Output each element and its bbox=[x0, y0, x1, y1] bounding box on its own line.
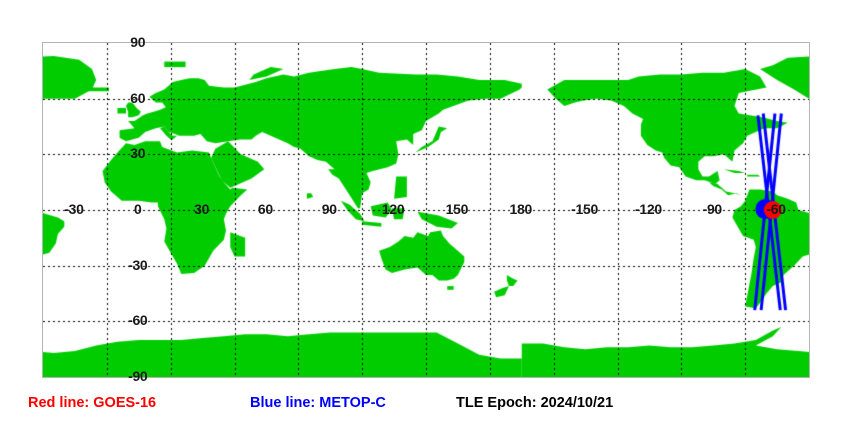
figure-legend: Red line: GOES-16 Blue line: METOP-C TLE… bbox=[0, 396, 850, 420]
lon-tick-label: -120 bbox=[635, 202, 662, 216]
legend-blue-line-metopc: Blue line: METOP-C bbox=[250, 396, 386, 411]
lon-tick-label: 180 bbox=[510, 202, 532, 216]
lon-tick-label: -30 bbox=[64, 202, 83, 216]
lat-tick-label: 30 bbox=[130, 146, 145, 160]
lon-tick-label: -150 bbox=[571, 202, 598, 216]
legend-red-line-goes16: Red line: GOES-16 bbox=[28, 396, 156, 411]
lon-tick-label: 150 bbox=[446, 202, 468, 216]
map-figure: -300306090120150180-150-120-90-60906030-… bbox=[0, 0, 850, 425]
lat-tick-label: -60 bbox=[128, 313, 147, 327]
lon-tick-label: 0 bbox=[134, 202, 142, 216]
lat-tick-label: 90 bbox=[130, 35, 145, 49]
lat-tick-label: -30 bbox=[128, 258, 147, 272]
lon-tick-label: -90 bbox=[703, 202, 722, 216]
lon-tick-label: 60 bbox=[258, 202, 273, 216]
lon-tick-label: 90 bbox=[322, 202, 337, 216]
lon-tick-label: -60 bbox=[766, 202, 785, 216]
lat-tick-label: 60 bbox=[130, 91, 145, 105]
lon-tick-label: 120 bbox=[382, 202, 404, 216]
lat-tick-label: -90 bbox=[128, 369, 147, 383]
world-map-plot bbox=[42, 42, 810, 378]
satellite-ground-track-layer bbox=[43, 43, 809, 377]
legend-tle-epoch: TLE Epoch: 2024/10/21 bbox=[456, 396, 613, 411]
lon-tick-label: 30 bbox=[194, 202, 209, 216]
